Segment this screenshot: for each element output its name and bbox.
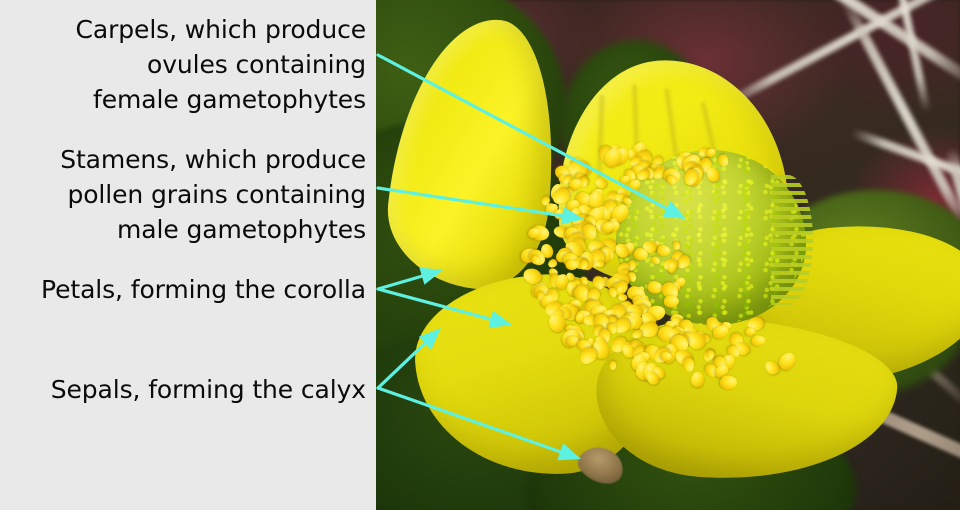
stamen-anther bbox=[608, 361, 616, 370]
stamen-anther bbox=[752, 335, 766, 347]
label-stamens: Stamens, which produce pollen grains con… bbox=[6, 142, 366, 247]
flower-photograph bbox=[376, 0, 960, 510]
caption-panel: Carpels, which produce ovules containing… bbox=[0, 0, 376, 510]
figure-root: Carpels, which produce ovules containing… bbox=[0, 0, 960, 510]
label-carpels: Carpels, which produce ovules containing… bbox=[6, 12, 366, 117]
stamen-anther bbox=[776, 349, 799, 372]
stamen-ring bbox=[376, 0, 960, 510]
stamen-anther bbox=[682, 357, 695, 372]
stamen-anther bbox=[705, 165, 722, 184]
stamen-anther bbox=[690, 371, 705, 388]
stamen-anther bbox=[673, 241, 681, 251]
label-petals: Petals, forming the corolla bbox=[6, 272, 366, 307]
stamen-anther bbox=[720, 375, 737, 389]
stamen-anther bbox=[631, 329, 644, 340]
label-sepals: Sepals, forming the calyx bbox=[6, 372, 366, 407]
stamen-anther bbox=[656, 245, 671, 258]
stamen-anther bbox=[664, 296, 679, 309]
stamen-anther bbox=[716, 153, 730, 168]
stamen-anther bbox=[660, 352, 671, 362]
stamen-anther bbox=[650, 255, 662, 266]
